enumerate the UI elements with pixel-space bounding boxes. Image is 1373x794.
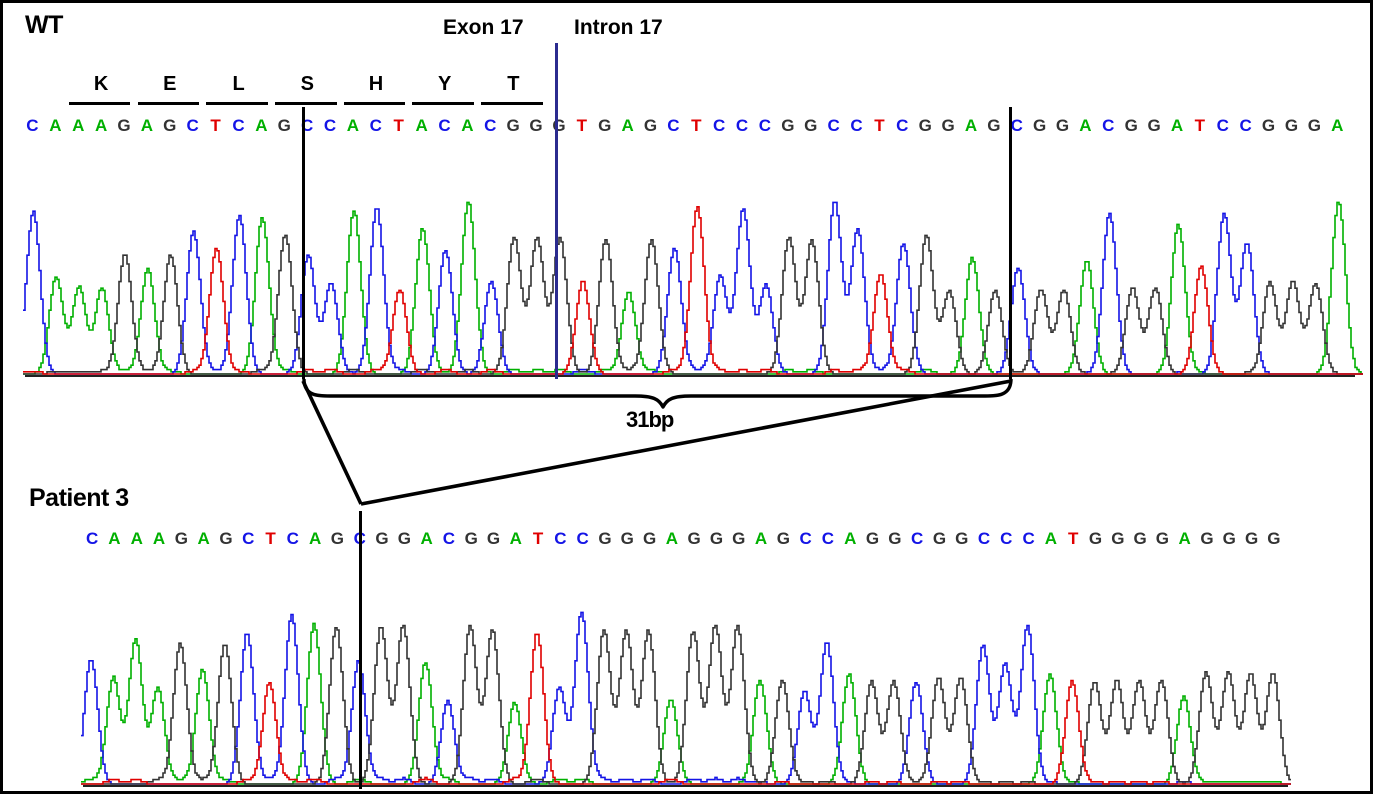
base-C: C <box>662 116 685 136</box>
base-C: C <box>181 116 204 136</box>
patient-panel-title: Patient 3 <box>29 484 129 513</box>
base-A: A <box>616 116 639 136</box>
base-G: G <box>1218 529 1240 549</box>
base-C: C <box>438 529 460 549</box>
amino-acid-k-0: K <box>81 73 121 96</box>
base-G: G <box>113 116 136 136</box>
base-G: G <box>393 529 415 549</box>
amino-acid-e-1: E <box>150 73 190 96</box>
base-C: C <box>1234 116 1257 136</box>
base-G: G <box>1051 116 1074 136</box>
base-C: C <box>1017 529 1039 549</box>
base-A: A <box>304 529 326 549</box>
deletion-size-label: 31bp <box>626 407 673 433</box>
base-G: G <box>170 529 192 549</box>
base-C: C <box>1097 116 1120 136</box>
base-T: T <box>1188 116 1211 136</box>
base-A: A <box>410 116 433 136</box>
patient-trace-baseline <box>83 785 1288 787</box>
base-G: G <box>1120 116 1143 136</box>
base-A: A <box>750 529 772 549</box>
base-G: G <box>1143 116 1166 136</box>
amino-acid-t-6: T <box>493 73 533 96</box>
deletion-start-marker <box>302 107 305 379</box>
base-G: G <box>1280 116 1303 136</box>
connector-line-left <box>303 381 361 504</box>
chromatogram-channel-G <box>81 626 1291 784</box>
patient-basecall-sequence: CAAAGAGCTCAGCGGACGGATCCGGGAGGGAGCCAGGCGG… <box>81 529 1285 549</box>
base-A: A <box>456 116 479 136</box>
base-G: G <box>982 116 1005 136</box>
base-A: A <box>415 529 437 549</box>
wt-basecall-sequence: CAAAGAGCTCAGCCACTACACGGGTGAGCTCCCGGCCTCG… <box>21 116 1349 136</box>
chromatogram-channel-T <box>23 207 1363 374</box>
base-C: C <box>237 529 259 549</box>
base-A: A <box>661 529 683 549</box>
base-G: G <box>273 116 296 136</box>
base-A: A <box>839 529 861 549</box>
base-G: G <box>502 116 525 136</box>
base-A: A <box>148 529 170 549</box>
base-A: A <box>67 116 90 136</box>
deletion-brace <box>304 379 1011 407</box>
base-C: C <box>906 529 928 549</box>
base-T: T <box>259 529 281 549</box>
base-G: G <box>371 529 393 549</box>
codon-underline-6 <box>481 102 543 105</box>
exon-region-label: Exon 17 <box>443 16 524 40</box>
amino-acid-l-2: L <box>219 73 259 96</box>
exon-intron-boundary-marker <box>555 43 558 379</box>
codon-underline-1 <box>138 102 200 105</box>
base-G: G <box>215 529 237 549</box>
base-C: C <box>995 529 1017 549</box>
patient-junction-marker <box>359 511 362 789</box>
codon-underline-5 <box>412 102 474 105</box>
base-G: G <box>1151 529 1173 549</box>
base-G: G <box>1196 529 1218 549</box>
base-A: A <box>1074 116 1097 136</box>
base-G: G <box>951 529 973 549</box>
base-G: G <box>594 529 616 549</box>
chromatogram-channel-G <box>23 235 1363 374</box>
figure-canvas: WT Exon 17 Intron 17 KELSHYT CAAAGAGCTCA… <box>0 0 1373 794</box>
base-A: A <box>90 116 113 136</box>
base-C: C <box>822 116 845 136</box>
base-A: A <box>341 116 364 136</box>
chromatogram-channel-C <box>81 612 1291 784</box>
base-A: A <box>1174 529 1196 549</box>
base-C: C <box>549 529 571 549</box>
base-C: C <box>708 116 731 136</box>
amino-acid-h-4: H <box>356 73 396 96</box>
base-A: A <box>250 116 273 136</box>
base-C: C <box>364 116 387 136</box>
base-G: G <box>547 116 570 136</box>
base-A: A <box>960 116 983 136</box>
base-C: C <box>319 116 342 136</box>
wt-panel-title: WT <box>25 11 63 40</box>
base-C: C <box>891 116 914 136</box>
base-G: G <box>1257 116 1280 136</box>
amino-acid-y-5: Y <box>425 73 465 96</box>
base-G: G <box>1084 529 1106 549</box>
base-G: G <box>593 116 616 136</box>
base-A: A <box>103 529 125 549</box>
base-G: G <box>460 529 482 549</box>
base-G: G <box>937 116 960 136</box>
base-C: C <box>973 529 995 549</box>
base-G: G <box>158 116 181 136</box>
base-C: C <box>1211 116 1234 136</box>
base-G: G <box>1240 529 1262 549</box>
base-G: G <box>861 529 883 549</box>
base-G: G <box>326 529 348 549</box>
codon-underline-3 <box>275 102 337 105</box>
codon-underline-2 <box>206 102 268 105</box>
base-T: T <box>685 116 708 136</box>
base-C: C <box>81 529 103 549</box>
base-A: A <box>192 529 214 549</box>
base-C: C <box>845 116 868 136</box>
base-G: G <box>482 529 504 549</box>
base-C: C <box>227 116 250 136</box>
base-G: G <box>1107 529 1129 549</box>
base-C: C <box>296 116 319 136</box>
base-C: C <box>282 529 304 549</box>
intron-region-label: Intron 17 <box>574 16 663 40</box>
base-C: C <box>731 116 754 136</box>
base-G: G <box>1028 116 1051 136</box>
base-C: C <box>572 529 594 549</box>
base-T: T <box>1062 529 1084 549</box>
base-G: G <box>638 529 660 549</box>
base-G: G <box>525 116 548 136</box>
wt-chromatogram-trace <box>23 146 1363 376</box>
base-G: G <box>705 529 727 549</box>
base-G: G <box>1303 116 1326 136</box>
base-G: G <box>639 116 662 136</box>
base-A: A <box>1040 529 1062 549</box>
base-G: G <box>616 529 638 549</box>
base-C: C <box>479 116 502 136</box>
base-G: G <box>776 116 799 136</box>
base-T: T <box>527 529 549 549</box>
codon-underline-4 <box>344 102 406 105</box>
chromatogram-channel-T <box>81 634 1291 784</box>
base-C: C <box>817 529 839 549</box>
connector-line-right <box>361 381 1011 504</box>
base-C: C <box>433 116 456 136</box>
base-G: G <box>1129 529 1151 549</box>
base-C: C <box>754 116 777 136</box>
base-A: A <box>44 116 67 136</box>
base-A: A <box>1166 116 1189 136</box>
deletion-end-marker <box>1009 107 1012 379</box>
base-G: G <box>683 529 705 549</box>
base-G: G <box>728 529 750 549</box>
base-C: C <box>795 529 817 549</box>
base-A: A <box>1326 116 1349 136</box>
wt-trace-baseline <box>25 375 1355 377</box>
base-G: G <box>884 529 906 549</box>
codon-underline-0 <box>69 102 131 105</box>
amino-acid-s-3: S <box>287 73 327 96</box>
base-A: A <box>126 529 148 549</box>
chromatogram-channel-A <box>81 623 1291 784</box>
base-G: G <box>799 116 822 136</box>
base-G: G <box>1263 529 1285 549</box>
base-A: A <box>135 116 158 136</box>
base-G: G <box>914 116 937 136</box>
base-C: C <box>21 116 44 136</box>
base-T: T <box>868 116 891 136</box>
base-G: G <box>928 529 950 549</box>
base-T: T <box>387 116 410 136</box>
patient-chromatogram-trace <box>81 556 1291 786</box>
base-T: T <box>570 116 593 136</box>
base-G: G <box>772 529 794 549</box>
base-A: A <box>505 529 527 549</box>
base-T: T <box>204 116 227 136</box>
